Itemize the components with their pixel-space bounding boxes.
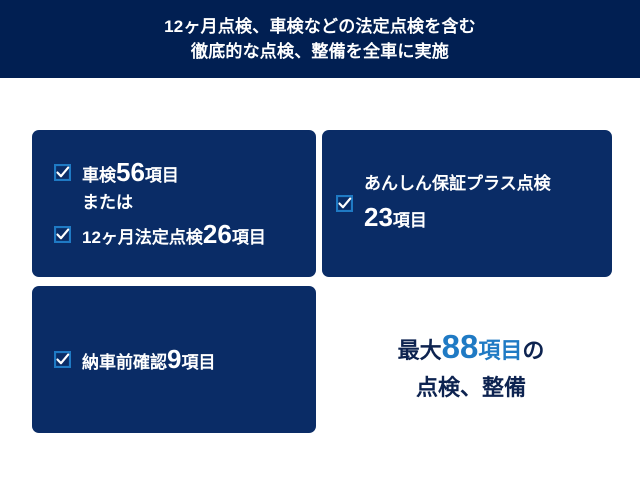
list-item-text: または [82,193,133,214]
summary-line-1: 最大88項目の [330,326,612,369]
item-suffix: 項目 [145,166,179,185]
card-shaken-list: 車検56項目 または 12ヶ月法定点検26項目 [54,157,266,249]
card-anshin-line-1: あんしん保証プラス点検 [364,174,551,195]
card-anshin-line-2: 23項目 [364,202,551,233]
summary-prefix: 最大 [398,338,442,363]
item-prefix: 車検 [82,166,116,185]
card-shaken: 車検56項目 または 12ヶ月法定点検26項目 [32,130,316,277]
checkbox-checked-icon [54,164,71,181]
card-anshin-hosho-plus: あんしん保証プラス点検 23項目 [322,130,612,277]
anshin-suffix: 項目 [393,211,427,230]
card-nosha-content: 納車前確認9項目 [54,286,302,433]
card-shaken-content: 車検56項目 または 12ヶ月法定点検26項目 [54,130,302,277]
summary-total: 最大88項目の 点検、整備 [330,326,612,402]
list-item: 車検56項目 [54,157,266,188]
summary-line-2: 点検、整備 [330,374,612,403]
item-suffix: 項目 [181,353,215,372]
checkbox-checked-icon [54,226,71,243]
list-item-text: 12ヶ月法定点検26項目 [82,219,266,250]
summary-unit: 項目 [478,338,522,363]
checkbox-slot [54,226,71,243]
item-prefix: 12ヶ月法定点検 [82,228,203,247]
list-item: 12ヶ月法定点検26項目 [54,219,266,250]
checkbox-slot [336,195,353,212]
list-item: 納車前確認9項目 [54,344,215,375]
list-item: または [54,193,266,214]
card-anshin-content: あんしん保証プラス点検 23項目 [336,130,598,277]
header-line-2: 徹底的な点検、整備を全車に実施 [191,39,449,64]
item-number: 9 [167,344,181,374]
item-number: 56 [116,157,145,187]
item-suffix: 項目 [232,228,266,247]
checkbox-checked-icon [336,195,353,212]
item-prefix: 納車前確認 [82,353,167,372]
checkbox-slot [54,351,71,368]
checkbox-checked-icon [54,351,71,368]
item-number: 26 [203,219,232,249]
list-item-text: 車検56項目 [82,157,179,188]
summary-particle: の [522,338,544,363]
header-line-1: 12ヶ月点検、車検などの法定点検を含む [164,14,476,39]
checkbox-slot [54,164,71,181]
item-prefix: または [82,193,133,212]
card-anshin-text: あんしん保証プラス点検 23項目 [364,174,551,233]
anshin-number: 23 [364,202,393,232]
header-banner: 12ヶ月点検、車検などの法定点検を含む 徹底的な点検、整備を全車に実施 [0,0,640,78]
summary-number: 88 [442,328,479,365]
anshin-title: あんしん保証プラス点検 [364,174,551,193]
list-item-text: 納車前確認9項目 [82,344,215,375]
card-nosha-mae: 納車前確認9項目 [32,286,316,433]
